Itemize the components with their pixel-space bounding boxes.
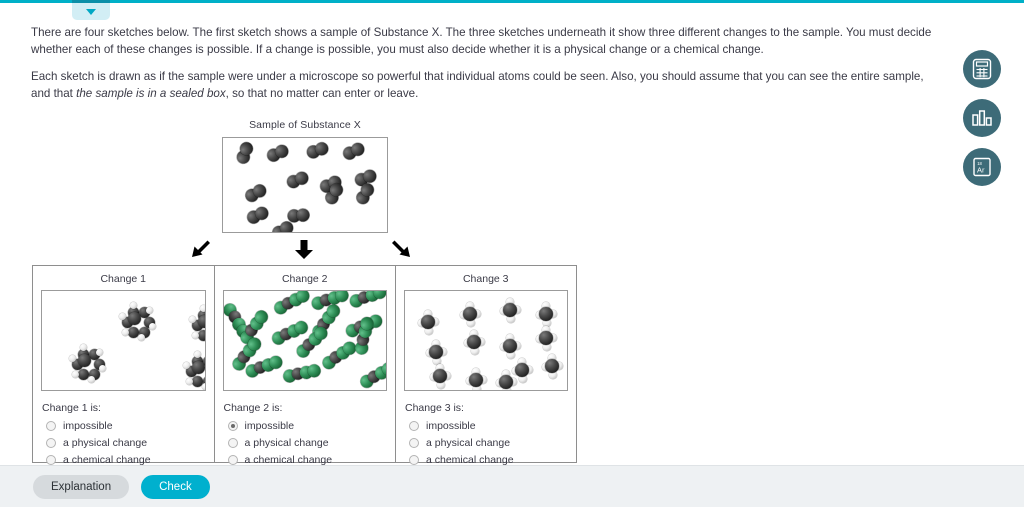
change-2-sketch-box	[223, 290, 388, 391]
change-1-question: Change 1 is:	[42, 402, 206, 414]
radio-icon[interactable]	[409, 438, 419, 448]
collapse-tab-handle[interactable]	[72, 0, 110, 20]
top-accent-rule	[0, 0, 1024, 3]
atom-dark	[539, 331, 553, 345]
arrow-to-change-2	[294, 240, 314, 260]
radio-icon[interactable]	[46, 421, 56, 431]
atom-dark	[503, 303, 517, 317]
change-1-option-impossible[interactable]: impossible	[46, 420, 206, 432]
atom-dark	[469, 373, 483, 387]
atom-white	[88, 376, 95, 383]
check-button[interactable]: Check	[141, 475, 210, 499]
atom-dark	[128, 312, 141, 325]
change-1-title: Change 1	[41, 273, 206, 285]
change-panels: Change 1 Change 1 is: impossible a physi…	[32, 265, 577, 463]
option-label: a physical change	[63, 437, 147, 449]
chevron-down-icon	[86, 9, 96, 15]
atom-dark	[78, 354, 91, 367]
atom-white	[189, 316, 196, 323]
change-2-question: Change 2 is:	[224, 402, 388, 414]
radio-icon[interactable]	[228, 455, 238, 465]
question-page: There are four sketches below. The first…	[0, 0, 1024, 507]
change-1-sketch-box	[41, 290, 206, 391]
change-panel-3: Change 3 Change 3 is: impossible a physi…	[395, 265, 577, 463]
change-3-option-physical[interactable]: a physical change	[409, 437, 568, 449]
atom-dark	[463, 307, 477, 321]
prompt-p2-emphasis: the sample is in a sealed box	[76, 87, 226, 100]
radio-icon[interactable]	[409, 455, 419, 465]
atom-dark	[467, 335, 481, 349]
chart-tool-button[interactable]	[963, 99, 1001, 137]
radio-icon[interactable]	[228, 438, 238, 448]
tool-rail: 18 Ar	[963, 50, 1001, 186]
change-panel-2: Change 2 Change 2 is: impossible a physi…	[214, 265, 396, 463]
arrow-to-change-3	[391, 240, 413, 260]
atom-white	[138, 334, 145, 341]
change-3-option-impossible[interactable]: impossible	[409, 420, 568, 432]
explanation-button[interactable]: Explanation	[33, 475, 129, 499]
atom-dark	[192, 361, 205, 374]
atom-white	[183, 362, 190, 369]
change-2-option-impossible[interactable]: impossible	[228, 420, 388, 432]
change-panel-1: Change 1 Change 1 is: impossible a physi…	[32, 265, 214, 463]
atom-dark	[503, 339, 517, 353]
atom-dark	[545, 359, 559, 373]
change-1-option-physical[interactable]: a physical change	[46, 437, 206, 449]
atom-dark	[128, 327, 139, 338]
prompt-p1-text: There are four sketches below. The first…	[31, 26, 931, 56]
atom-dark	[539, 307, 553, 321]
calculator-tool-button[interactable]	[963, 50, 1001, 88]
option-label: impossible	[63, 420, 113, 432]
sample-sketch: Sample of Substance X	[222, 119, 388, 233]
atom-white	[96, 349, 103, 356]
prompt-paragraph-2: Each sketch is drawn as if the sample we…	[31, 69, 941, 102]
atom-white	[200, 305, 205, 312]
atom-dark	[515, 363, 529, 377]
radio-icon[interactable]	[46, 438, 56, 448]
sample-caption: Sample of Substance X	[222, 119, 388, 131]
radio-icon[interactable]	[409, 421, 419, 431]
radio-icon[interactable]	[228, 421, 238, 431]
atom-dark	[433, 369, 447, 383]
option-label: a physical change	[245, 437, 329, 449]
atom-dark	[198, 315, 206, 328]
change-2-title: Change 2	[223, 273, 388, 285]
option-label: impossible	[426, 420, 476, 432]
atom-dark	[192, 376, 203, 387]
atom-dark	[499, 375, 513, 389]
change-3-question: Change 3 is:	[405, 402, 568, 414]
change-3-title: Change 3	[404, 273, 568, 285]
prompt-p2-text-b: , so that no matter can enter or leave.	[226, 87, 419, 100]
question-prompt: There are four sketches below. The first…	[31, 25, 941, 102]
arrow-row	[0, 240, 600, 262]
atom-dark	[429, 345, 443, 359]
change-2-option-physical[interactable]: a physical change	[228, 437, 388, 449]
prompt-paragraph-1: There are four sketches below. The first…	[31, 25, 941, 58]
atom-white	[99, 365, 106, 372]
atom-dark	[296, 208, 310, 222]
radio-icon[interactable]	[46, 455, 56, 465]
action-bar: Explanation Check	[0, 465, 1024, 507]
atom-white	[119, 313, 126, 320]
svg-text:Ar: Ar	[977, 166, 985, 175]
periodic-table-tool-button[interactable]: 18 Ar	[963, 148, 1001, 186]
atom-white	[146, 307, 153, 314]
option-label: impossible	[245, 420, 295, 432]
atom-dark	[421, 315, 435, 329]
option-label: a physical change	[426, 437, 510, 449]
arrow-to-change-1	[189, 240, 211, 260]
atom-white	[149, 323, 156, 330]
atom-dark	[78, 369, 89, 380]
atom-white	[69, 355, 76, 362]
change-3-sketch-box	[404, 290, 568, 391]
sample-sketch-box	[222, 137, 388, 233]
